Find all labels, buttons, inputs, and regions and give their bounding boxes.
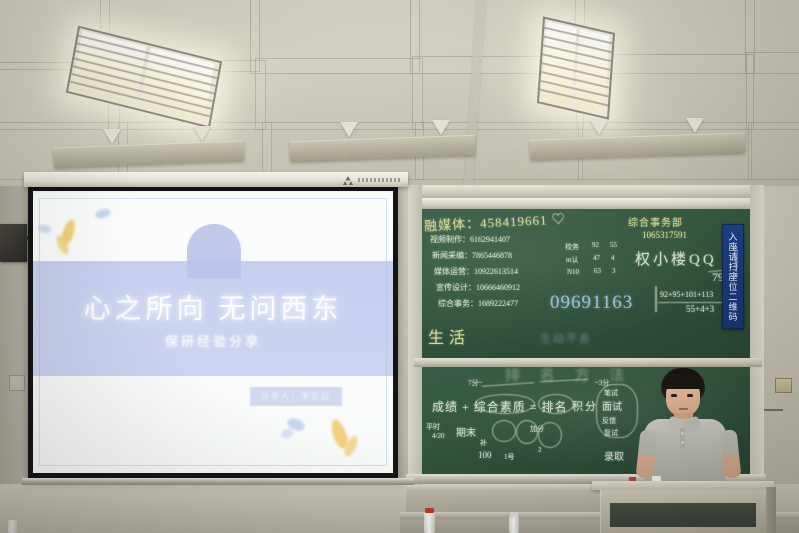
mouth bbox=[679, 408, 688, 410]
seat-qr-sign-sublabel: 未扫码请勿入座 bbox=[733, 246, 739, 278]
shirt-button bbox=[681, 432, 684, 435]
pendant-cone bbox=[103, 129, 121, 144]
board-note: 1号 bbox=[504, 452, 515, 462]
slide-subtitle: 保研经验分享 bbox=[33, 331, 393, 350]
pendant-cone bbox=[686, 118, 704, 133]
board-score-label: 校务 bbox=[565, 242, 579, 252]
board-big-number: 09691163 bbox=[550, 292, 633, 314]
mitsubishi-wordmark bbox=[358, 178, 400, 182]
board-headline: 融媒体：458419661 ♡ bbox=[424, 208, 567, 234]
ceiling bbox=[0, 0, 799, 196]
blackboard-frame-left bbox=[408, 185, 422, 485]
blackboard-upper-rail bbox=[414, 198, 762, 209]
board-note: 4/20 bbox=[432, 432, 444, 440]
board-right-note: 录取 bbox=[604, 448, 624, 463]
slide-title: 心之所向 无问西东 bbox=[33, 287, 393, 326]
board-score-label: m认 bbox=[566, 255, 578, 265]
board-right-number: 1065317591 bbox=[642, 230, 687, 240]
pendant-cone bbox=[193, 126, 211, 141]
wall-plate bbox=[9, 375, 25, 391]
board-score-b: 55 bbox=[610, 241, 617, 249]
blackboard-middle-rail bbox=[414, 358, 762, 367]
board-score-a: 47 bbox=[593, 254, 600, 262]
shirt-button bbox=[681, 441, 684, 444]
board-note: 100 bbox=[478, 450, 492, 460]
blackboard-frame-top bbox=[408, 185, 764, 199]
blackboard-frame-right bbox=[750, 185, 764, 485]
presentation-slide: 心之所向 无问西东 保研经验分享 分享人：李志远 bbox=[33, 191, 393, 473]
board-note: 补 bbox=[480, 438, 487, 448]
board-list-item: 视频制作：6162941407 bbox=[430, 234, 510, 245]
podium-object-red[interactable] bbox=[629, 477, 636, 481]
slide-presenter-badge: 分享人：李志远 bbox=[250, 387, 342, 406]
board-score-sum: 92+95+101+113 bbox=[660, 290, 713, 299]
recessed-fluorescent-troffer bbox=[537, 16, 615, 119]
board-score-label: N10 bbox=[567, 268, 579, 276]
board-score-a: 63 bbox=[594, 267, 601, 275]
screen-bottom-rail bbox=[22, 478, 414, 485]
board-right-headline: 综合事务部 bbox=[628, 214, 683, 229]
podium-front-panel bbox=[610, 503, 756, 527]
pendant-cone bbox=[432, 120, 450, 135]
water-bottle[interactable] bbox=[424, 512, 435, 533]
eye bbox=[687, 394, 693, 397]
board-list-item: 媒体运营：10922613514 bbox=[434, 266, 518, 277]
board-qq-note: 权小楼QQ bbox=[635, 248, 717, 269]
ceiling-tile bbox=[255, 58, 423, 130]
board-note: 期末 bbox=[456, 424, 476, 439]
pendant-cone bbox=[340, 122, 358, 137]
board-list-item: 宣传设计：10666460912 bbox=[436, 282, 520, 293]
pendant-cone bbox=[590, 120, 608, 135]
screen-surface: 心之所向 无问西东 保研经验分享 分享人：李志远 bbox=[33, 191, 393, 473]
mitsubishi-logo-icon bbox=[340, 176, 356, 185]
board-right-label: 积分 bbox=[572, 398, 598, 414]
classroom-photo: 心之所向 无问西东 保研经验分享 分享人：李志远 融媒体：458419661 ♡… bbox=[0, 0, 799, 533]
projection-screen[interactable]: 心之所向 无问西东 保研经验分享 分享人：李志远 bbox=[28, 186, 398, 478]
board-score-a: 92 bbox=[592, 241, 599, 249]
water-bottle[interactable] bbox=[509, 516, 519, 533]
board-list-item: 综合事务：1689222477 bbox=[438, 298, 518, 309]
board-score-sum2: 55+4+3 bbox=[686, 304, 714, 314]
board-score-b: 3 bbox=[612, 267, 616, 275]
bottle-cap bbox=[510, 512, 518, 517]
ceiling-tile bbox=[748, 122, 799, 180]
board-bottom-word: 生活 bbox=[428, 324, 470, 348]
speaker-person bbox=[630, 368, 748, 486]
bottle-cap bbox=[425, 508, 434, 513]
board-note: 2 bbox=[538, 446, 542, 454]
podium-top-surface bbox=[592, 481, 774, 490]
ceiling-tile bbox=[746, 52, 799, 130]
eye bbox=[671, 394, 677, 397]
hair-fringe bbox=[662, 374, 704, 389]
board-list-item: 新闻采编：7865446878 bbox=[432, 250, 512, 261]
wall-mounted-projector-box bbox=[0, 224, 27, 262]
water-bottle[interactable] bbox=[8, 520, 17, 533]
blackboard-upper-panel[interactable]: 融媒体：458419661 ♡ 视频制作：6162941407 新闻采编：786… bbox=[420, 208, 752, 360]
podium-object-white[interactable] bbox=[652, 476, 661, 481]
board-bottom-blue-note: 生动不息 bbox=[540, 330, 592, 346]
board-score-b: 4 bbox=[611, 254, 615, 262]
board-note: 平时 bbox=[426, 422, 440, 432]
lectern-podium[interactable] bbox=[592, 481, 774, 533]
podium-side bbox=[766, 487, 776, 533]
shirt-placket bbox=[680, 428, 685, 448]
arm-right bbox=[720, 429, 742, 479]
